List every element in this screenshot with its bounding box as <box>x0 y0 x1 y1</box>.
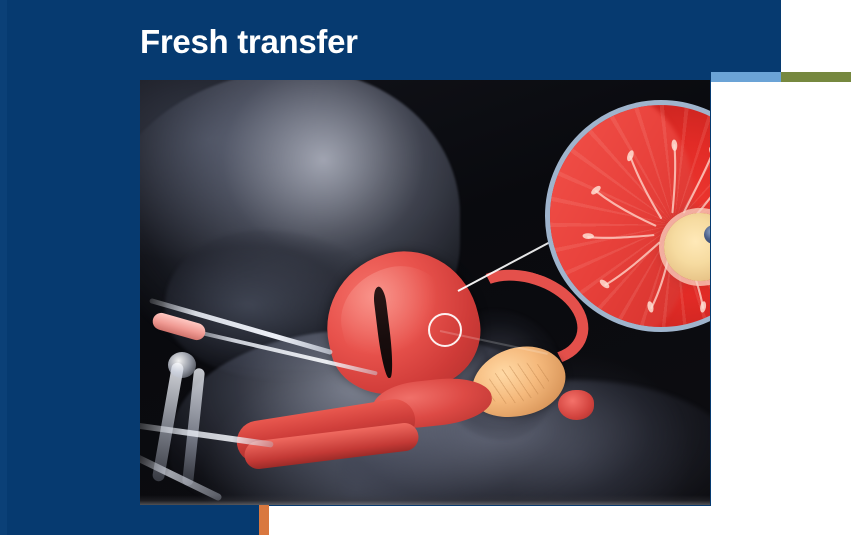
accent-bar-green <box>781 72 851 82</box>
background-left-edge-strip <box>0 0 7 535</box>
illustration-bottom-fade <box>140 495 710 505</box>
medical-illustration <box>140 80 710 505</box>
accent-bar-blue <box>711 72 781 82</box>
embryo-nucleus <box>704 225 710 244</box>
tube-fimbria <box>558 390 594 420</box>
accent-bar-orange <box>259 505 269 535</box>
endometrium-magnified-inset <box>545 100 710 332</box>
ovary-striations <box>480 356 554 411</box>
illustration-backdrop <box>140 80 710 505</box>
page-title: Fresh transfer <box>140 22 358 62</box>
speculum-thumbscrew <box>168 352 196 378</box>
slide-canvas: Fresh transfer <box>0 0 851 535</box>
magnification-marker <box>428 313 462 347</box>
